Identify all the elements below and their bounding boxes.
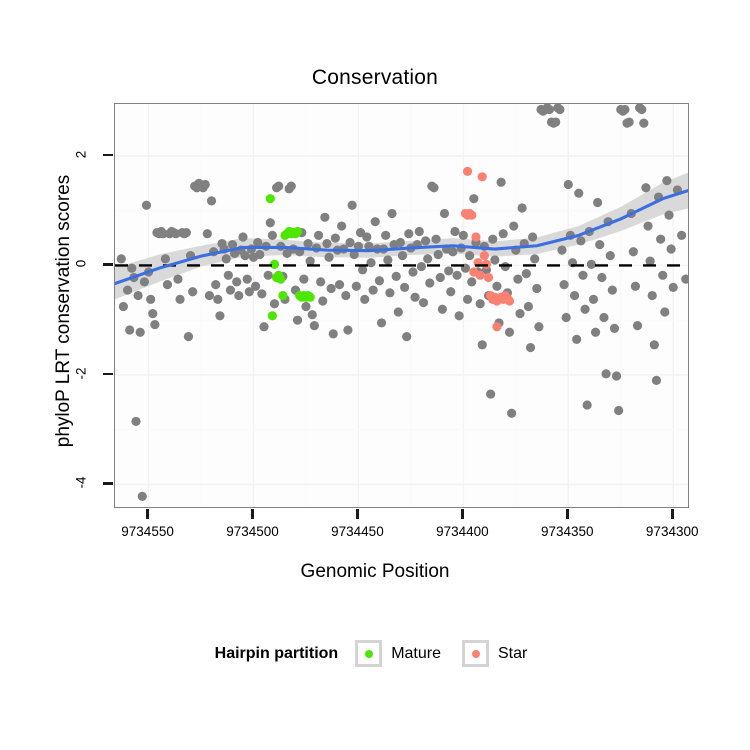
- x-tick-label-4: 9734350: [522, 524, 612, 539]
- y-tick-3: [103, 482, 113, 485]
- y-tick-1: [103, 263, 113, 266]
- legend-key-star: [462, 640, 489, 667]
- legend: Hairpin partition Mature Star: [0, 640, 750, 667]
- x-axis-label: Genomic Position: [0, 561, 750, 583]
- series-other: [117, 104, 689, 501]
- x-tick-label-5: 9734300: [627, 524, 717, 539]
- x-tick-5: [671, 509, 674, 519]
- y-tick-2: [103, 373, 113, 376]
- legend-label-mature: Mature: [391, 645, 441, 663]
- x-tick-label-1: 9734500: [208, 524, 298, 539]
- y-tick-label-3: -4: [74, 468, 89, 498]
- x-tick-label-2: 9734450: [312, 524, 402, 539]
- x-tick-4: [566, 509, 569, 519]
- plot-canvas: [115, 104, 689, 508]
- y-axis-label: phyloP LRT conservation scores: [53, 101, 75, 521]
- x-tick-0: [146, 509, 149, 519]
- legend-item-mature[interactable]: Mature: [355, 640, 449, 667]
- y-tick-label-0: 2: [74, 139, 89, 169]
- legend-label-star: Star: [498, 645, 527, 663]
- legend-title: Hairpin partition: [215, 645, 339, 663]
- x-tick-2: [356, 509, 359, 519]
- chart-title: Conservation: [0, 66, 750, 90]
- plot-panel: [114, 103, 689, 508]
- legend-item-star[interactable]: Star: [462, 640, 535, 667]
- y-tick-label-1: 0: [74, 249, 89, 279]
- y-tick-0: [103, 154, 113, 157]
- mature-dot-icon: [365, 650, 373, 658]
- y-tick-label-2: -2: [74, 358, 89, 388]
- x-tick-label-3: 9734400: [417, 524, 507, 539]
- x-tick-3: [461, 509, 464, 519]
- x-tick-label-0: 9734550: [103, 524, 193, 539]
- conservation-scatter-plot: Conservation phyloP LRT conservation sco…: [0, 0, 750, 750]
- x-tick-1: [251, 509, 254, 519]
- legend-key-mature: [355, 640, 382, 667]
- gridlines: [115, 104, 689, 508]
- star-dot-icon: [472, 650, 480, 658]
